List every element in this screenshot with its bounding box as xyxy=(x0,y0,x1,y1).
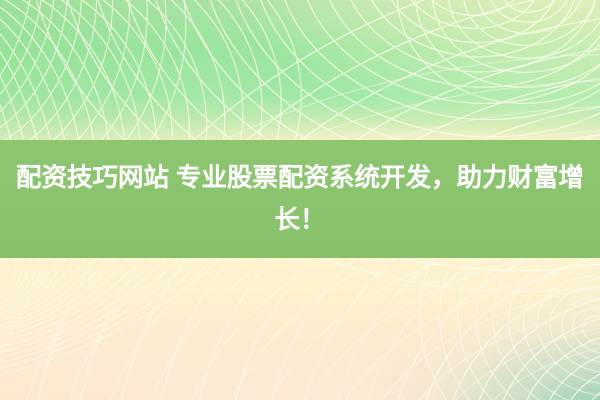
promo-banner: 配资技巧网站 专业股票配资系统开发，助力财富增长！ xyxy=(0,0,600,400)
headline-band: 配资技巧网站 专业股票配资系统开发，助力财富增长！ xyxy=(0,140,600,258)
banner-headline: 配资技巧网站 专业股票配资系统开发，助力财富增长！ xyxy=(0,157,600,241)
